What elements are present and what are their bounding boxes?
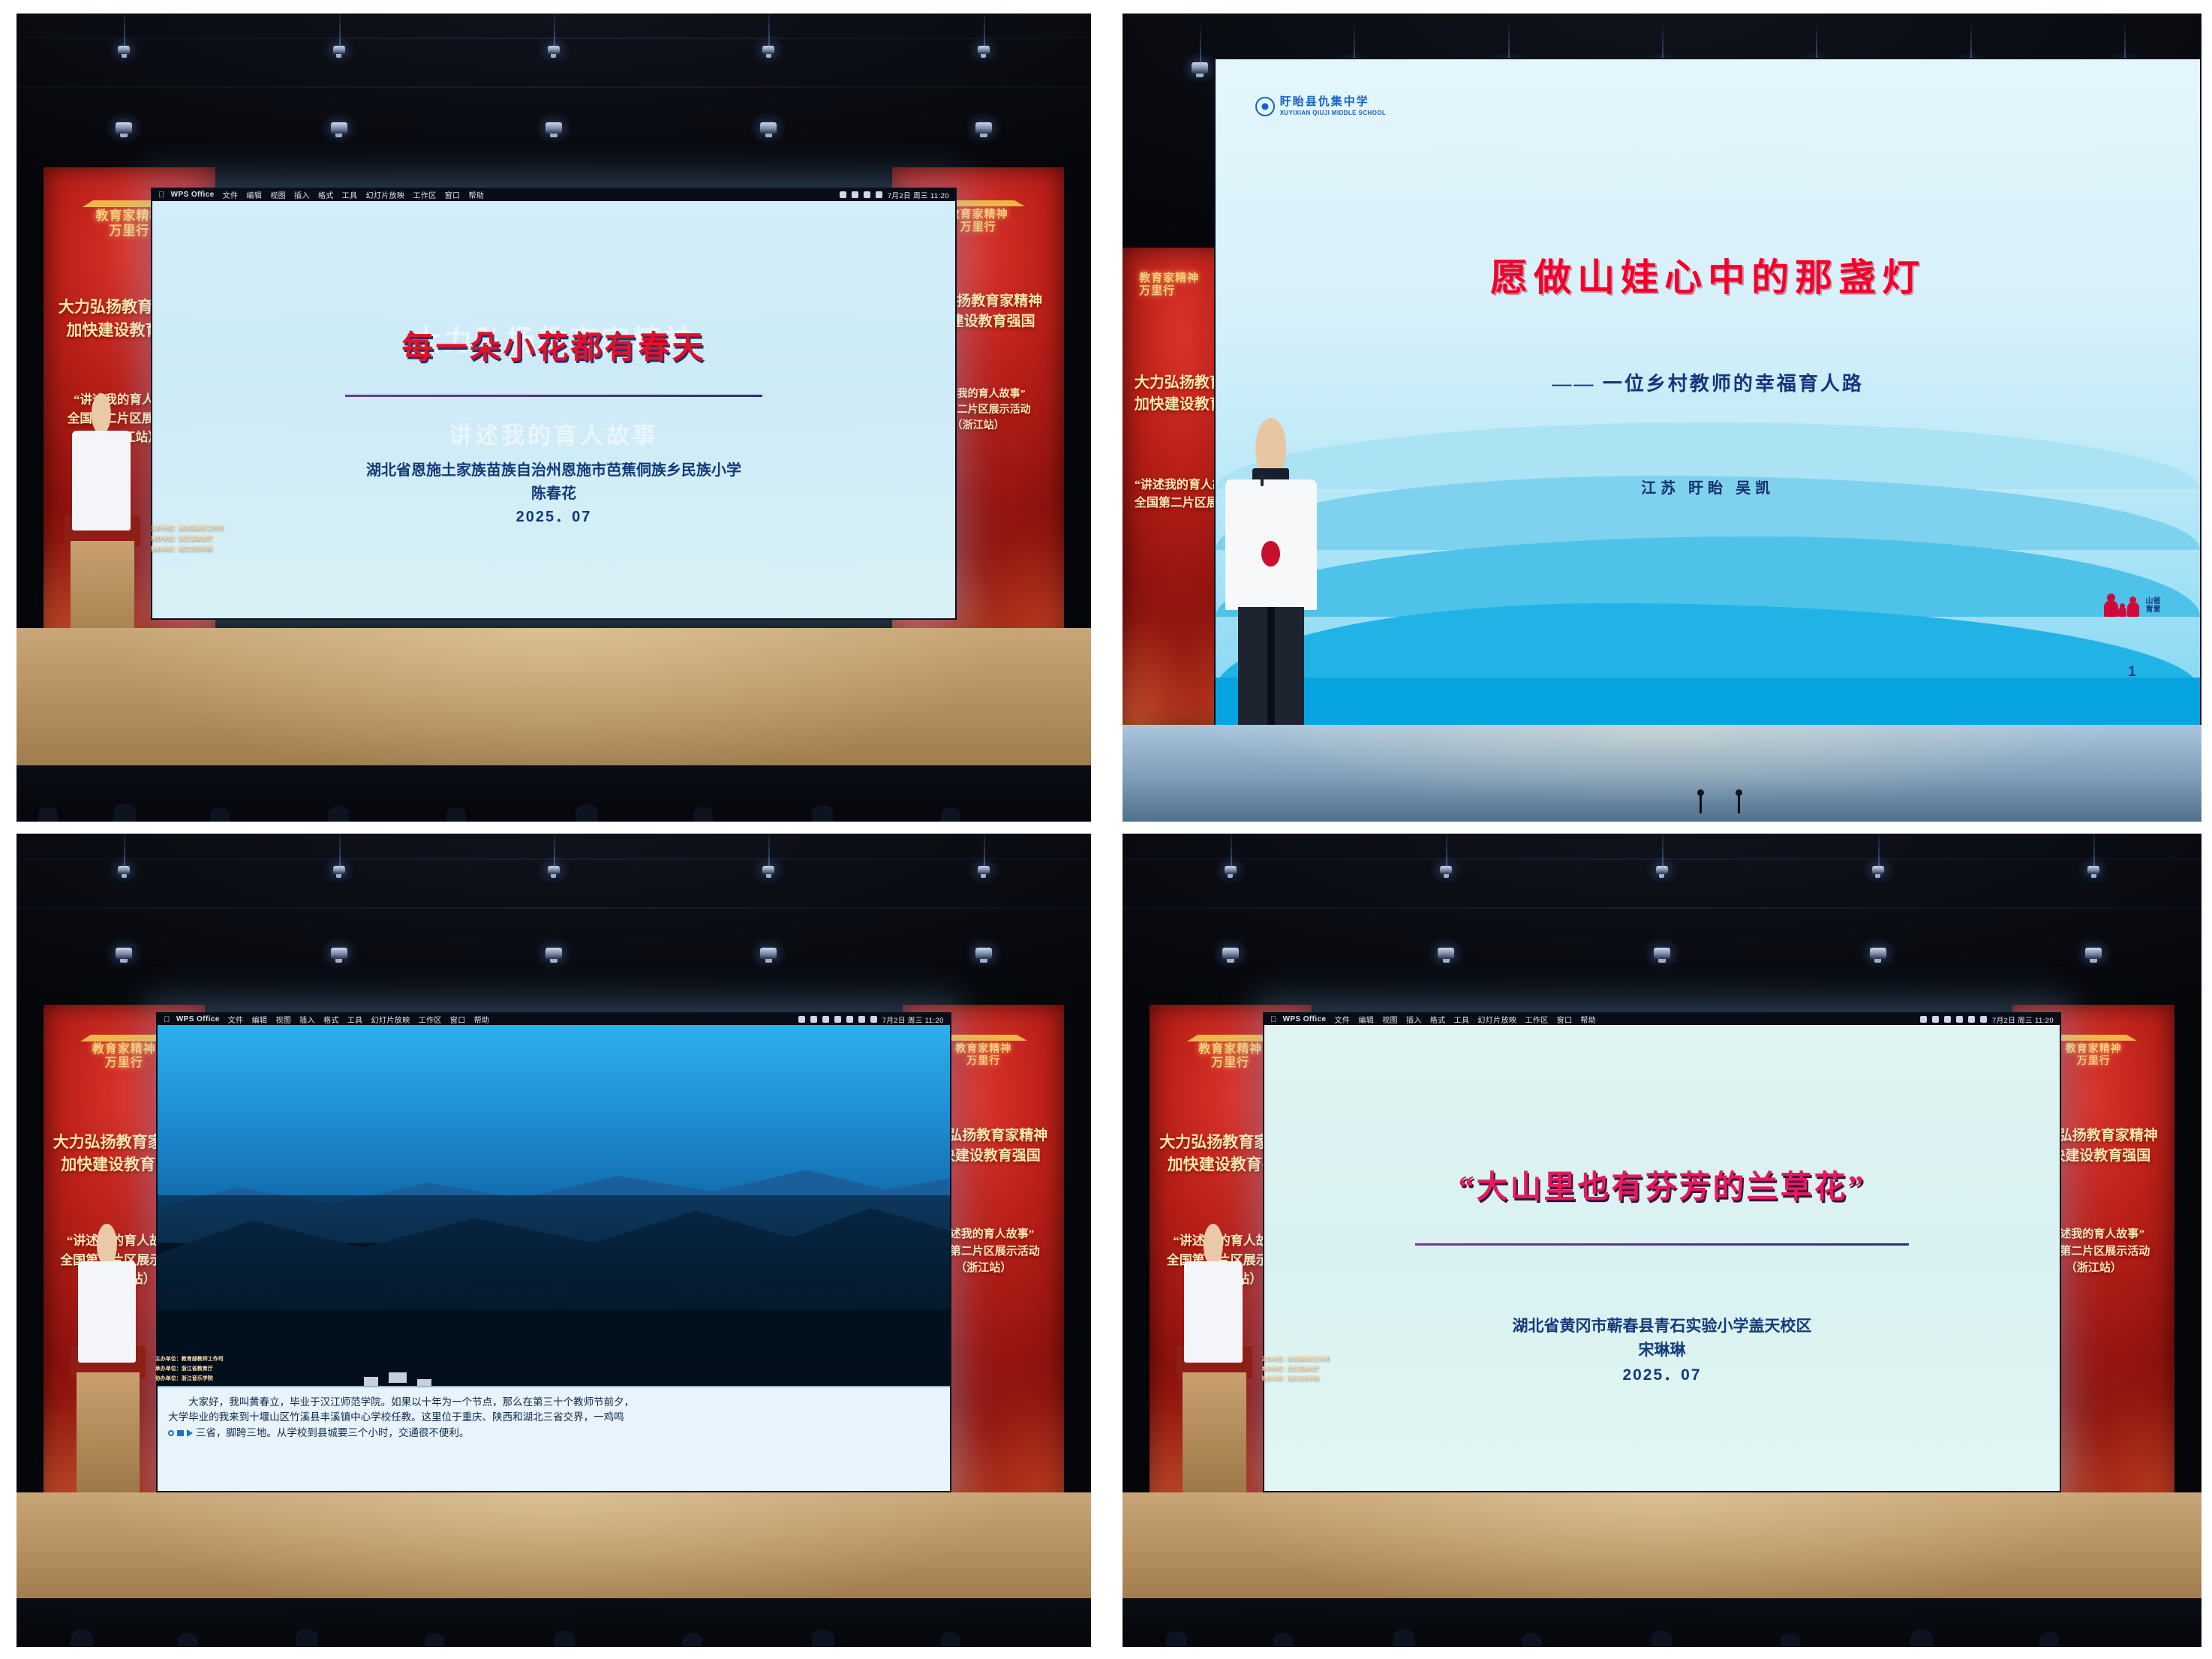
audience-area xyxy=(1123,1598,2201,1647)
stage-light-icon xyxy=(1654,948,1670,959)
display-icon[interactable] xyxy=(858,1016,865,1023)
stage-light-icon xyxy=(1870,948,1886,959)
panel-4-title-slide: 教育家精神 万里行 大力弘扬教育家精神 加快建设教育强国 “讲述我的育人故事” … xyxy=(1123,834,2201,1647)
stage-light-icon xyxy=(331,122,347,134)
id-badge xyxy=(1261,541,1279,567)
menu-item-wps-office[interactable]: WPS Office xyxy=(176,1015,220,1023)
slide-canvas: 大家好，我叫黄春立，毕业于汉江师范学院。如果以十年为一个节点，那么在第三十个教师… xyxy=(158,1014,950,1491)
macos-menubar[interactable]:  WPS Office 文件 编辑 视图 插入 格式 工具 幻灯片放映 工作区… xyxy=(152,189,955,201)
stage-light-icon xyxy=(2085,948,2102,959)
battery-icon[interactable] xyxy=(840,191,846,198)
speaker-person xyxy=(78,1224,136,1362)
search-icon[interactable] xyxy=(1980,1016,1987,1023)
stage-light-icon xyxy=(760,948,777,959)
panel-2-speaker-closeup: 教育家精神 万里行 大力弘扬教育家精神 加快建设教育强国 “讲述我的育人故事” … xyxy=(1123,14,2201,822)
menu-item-window[interactable]: 窗口 xyxy=(445,189,461,200)
menu-item-view[interactable]: 视图 xyxy=(1382,1014,1398,1025)
apple-icon[interactable]:  xyxy=(158,191,165,200)
menu-item-wps-office[interactable]: WPS Office xyxy=(1283,1015,1327,1023)
lighting-truss-2 xyxy=(17,907,1091,909)
slide-title: “大山里也有芬芳的兰草花” xyxy=(1264,1162,2060,1207)
search-icon[interactable] xyxy=(876,191,882,198)
stop-icon[interactable] xyxy=(177,1430,184,1436)
sponsor-line-3: 协办单位：浙江音乐学院 xyxy=(155,1374,274,1384)
apple-icon[interactable]:  xyxy=(1270,1015,1277,1024)
slide-subtitle: —— 一位乡村教师的幸福育人路 xyxy=(1216,368,2200,396)
lamp-row-lower xyxy=(1123,948,2201,959)
stage-light-icon xyxy=(1222,948,1239,959)
projection-screen: “大山里也有芬芳的兰草花” 湖北省黄冈市蕲春县青石实验小学盖天校区 宋琳琳 20… xyxy=(1263,1012,2061,1492)
stage-light-icon xyxy=(762,46,774,54)
slide-presenter: 陈春花 xyxy=(152,482,955,506)
menubar-clock[interactable]: 7月2日 周三 11:20 xyxy=(1992,1014,2054,1025)
menu-item-file[interactable]: 文件 xyxy=(1335,1014,1351,1025)
sponsor-line-2: 承办单位：浙江省教育厅 xyxy=(1262,1364,1381,1374)
caption-line-3: 三省，脚跨三地。从学校到县城要三个小时，交通很不便利。 xyxy=(196,1427,470,1438)
menu-item-tools[interactable]: 工具 xyxy=(342,189,358,200)
stage-light-icon xyxy=(118,866,130,874)
lamp-row-upper xyxy=(17,866,1091,874)
sponsor-line-2: 承办单位：浙江省教育厅 xyxy=(155,1364,274,1374)
stage-light-icon xyxy=(1872,866,1884,874)
stage-light-icon xyxy=(1192,62,1208,74)
menu-item-insert[interactable]: 插入 xyxy=(299,1014,315,1025)
menu-item-help[interactable]: 帮助 xyxy=(1580,1014,1596,1025)
slide-presenter: 江苏 盱眙 吴凯 xyxy=(1216,476,2200,497)
record-icon[interactable] xyxy=(168,1430,174,1436)
stage-light-icon xyxy=(118,46,130,54)
audience-area xyxy=(17,1598,1091,1647)
bluetooth-icon[interactable] xyxy=(822,1016,829,1023)
menu-item-wps-office[interactable]: WPS Office xyxy=(171,191,215,199)
menubar-status-area[interactable]: 7月2日 周三 11:20 xyxy=(840,190,955,200)
stage-light-icon xyxy=(1438,948,1454,959)
sponsor-line-1: 主办单位：教育部教师工作司 xyxy=(155,1354,274,1364)
podium xyxy=(1177,1346,1252,1492)
stage-light-icon xyxy=(545,948,562,959)
menu-item-file[interactable]: 文件 xyxy=(223,189,239,200)
volume-icon[interactable] xyxy=(834,1016,841,1023)
narration-caption: 大家好，我叫黄春立，毕业于汉江师范学院。如果以十年为一个节点，那么在第三十个教师… xyxy=(158,1386,950,1491)
stage-light-icon xyxy=(978,866,990,874)
menu-item-slideshow[interactable]: 幻灯片放映 xyxy=(371,1014,410,1025)
auditorium-background: 教育家精神 万里行 大力弘扬教育家精神 加快建设教育强国 “讲述我的育人故事” … xyxy=(1123,834,2201,1647)
apple-icon[interactable]:  xyxy=(164,1015,170,1024)
macos-menubar[interactable]:  WPS Office 文件 编辑 视图 插入 格式 工具 幻灯片放映 工作区… xyxy=(1264,1014,2060,1025)
menu-item-help[interactable]: 帮助 xyxy=(474,1014,490,1025)
lighting-truss-2 xyxy=(17,86,1091,88)
sponsor-line-3: 协办单位：浙江音乐学院 xyxy=(1262,1374,1381,1384)
stage-light-icon xyxy=(116,948,132,959)
macos-menubar[interactable]:  WPS Office 文件 编辑 视图 插入 格式 工具 幻灯片放映 工作区… xyxy=(158,1014,950,1025)
caption-line-2: 大学毕业的我来到十堰山区竹溪县丰溪镇中心学校任教。这里位于重庆、陕西和湖北三省交… xyxy=(168,1410,939,1425)
menubar-status-area[interactable]: 7月2日 周三 11:20 xyxy=(1920,1014,2060,1025)
menu-item-slideshow[interactable]: 幻灯片放映 xyxy=(1477,1014,1516,1025)
menu-item-workspace[interactable]: 工作区 xyxy=(1525,1014,1548,1025)
menu-item-format[interactable]: 格式 xyxy=(1430,1014,1446,1025)
sponsor-block: 主办单位：教育部教师工作司 承办单位：浙江省教育厅 协办单位：浙江音乐学院 xyxy=(151,523,280,555)
playback-controls[interactable] xyxy=(168,1429,193,1437)
menu-item-workspace[interactable]: 工作区 xyxy=(419,1014,442,1025)
slide-canvas: “大山里也有芬芳的兰草花” 湖北省黄冈市蕲春县青石实验小学盖天校区 宋琳琳 20… xyxy=(1264,1014,2060,1491)
floor-mic-left xyxy=(1700,794,1702,813)
stage-light-icon xyxy=(548,46,560,54)
wifi-icon[interactable] xyxy=(1932,1016,1939,1023)
projection-screen: 大家好，我叫黄春立，毕业于汉江师范学院。如果以十年为一个节点，那么在第三十个教师… xyxy=(156,1012,951,1492)
menu-item-format[interactable]: 格式 xyxy=(318,189,334,200)
auditorium-background: 教育家精神 万里行 大力弘扬教育家精神 加快建设教育强国 “讲述我的育人故事” … xyxy=(1123,14,2201,822)
school-logo: 盱眙县仇集中学 XUYIXIAN QIUJI MIDDLE SCHOOL xyxy=(1255,96,1386,116)
menu-item-workspace[interactable]: 工作区 xyxy=(413,189,436,200)
stage-light-icon xyxy=(975,948,992,959)
menu-item-window[interactable]: 窗口 xyxy=(1557,1014,1573,1025)
menu-item-view[interactable]: 视图 xyxy=(270,189,286,200)
slide-presenter: 宋琳琳 xyxy=(1264,1339,2060,1363)
panel-3-photo-slide: 教育家精神 万里行 大力弘扬教育家精神 加快建设教育强国 “讲述我的育人故事” … xyxy=(17,834,1091,1647)
sponsor-block: 主办单位：教育部教师工作司 承办单位：浙江省教育厅 协办单位：浙江音乐学院 xyxy=(155,1354,274,1384)
bluetooth-icon[interactable] xyxy=(1944,1016,1951,1023)
auditorium-background: 教育家精神 万里行 大力弘扬教育家精神 加快建设教育强国 “讲述我的育人故事” … xyxy=(17,834,1091,1647)
stage-light-icon xyxy=(548,866,560,874)
menu-item-format[interactable]: 格式 xyxy=(323,1014,339,1025)
menubar-clock[interactable]: 7月2日 周三 11:20 xyxy=(888,190,949,200)
menubar-status-area[interactable]: 7月2日 周三 11:20 xyxy=(798,1014,950,1025)
corner-logo-line1: 山爸 xyxy=(2146,597,2161,606)
menubar-clock[interactable]: 7月2日 周三 11:20 xyxy=(882,1014,944,1025)
menu-item-file[interactable]: 文件 xyxy=(228,1014,244,1025)
slide-watermark-2: 讲述我的育人故事 xyxy=(152,416,955,450)
lamp-row-lower xyxy=(17,122,1091,134)
wifi-icon[interactable] xyxy=(810,1016,817,1023)
water-band xyxy=(1216,678,2200,732)
sponsor-line-1: 主办单位：教育部教师工作司 xyxy=(1262,1354,1381,1364)
sponsor-line-3: 协办单位：浙江音乐学院 xyxy=(151,544,280,555)
floor-mic-right xyxy=(1738,794,1740,813)
stage-light-icon xyxy=(333,866,345,874)
volume-icon[interactable] xyxy=(864,191,870,198)
stage-light-icon xyxy=(116,122,132,134)
volume-icon[interactable] xyxy=(1956,1016,1963,1023)
stage-light-icon xyxy=(333,46,345,54)
stage-light-icon xyxy=(975,122,992,134)
menu-item-view[interactable]: 视图 xyxy=(275,1014,291,1025)
menu-item-window[interactable]: 窗口 xyxy=(450,1014,466,1025)
auditorium-background: 教育家精神 万里行 大力弘扬教育家精神 加快建设教育强国 “讲述我的育人故事” … xyxy=(17,14,1091,822)
menu-item-insert[interactable]: 插入 xyxy=(294,189,310,200)
audience-area xyxy=(17,765,1091,822)
menu-item-edit[interactable]: 编辑 xyxy=(246,189,262,200)
lamp-row-upper xyxy=(1123,866,2201,874)
title-underline xyxy=(345,395,762,397)
podium xyxy=(71,1346,146,1492)
menu-item-tools[interactable]: 工具 xyxy=(1454,1014,1470,1025)
sponsor-line-1: 主办单位：教育部教师工作司 xyxy=(151,523,280,533)
stage-light-icon xyxy=(331,948,347,959)
school-logo-en: XUYIXIAN QIUJI MIDDLE SCHOOL xyxy=(1280,110,1386,116)
stage-light-icon xyxy=(760,122,777,134)
menu-item-edit[interactable]: 编辑 xyxy=(1358,1014,1374,1025)
page-number: 1 xyxy=(2128,664,2136,681)
menu-item-insert[interactable]: 插入 xyxy=(1406,1014,1422,1025)
display-icon[interactable] xyxy=(1968,1016,1975,1023)
slide-title: 愿做山娃心中的那盏灯 xyxy=(1216,248,2200,302)
menu-item-help[interactable]: 帮助 xyxy=(468,189,484,200)
stage-light-icon xyxy=(1225,866,1237,874)
speaker-person xyxy=(72,393,130,530)
corner-family-logo: 山爸 育爱 xyxy=(2104,594,2161,617)
stage-light-icon xyxy=(762,866,774,874)
stage-light-icon xyxy=(2087,866,2099,874)
search-icon[interactable] xyxy=(870,1016,877,1023)
stage-floor xyxy=(1123,725,2201,822)
play-icon[interactable] xyxy=(187,1429,193,1437)
menu-item-edit[interactable]: 编辑 xyxy=(252,1014,268,1025)
stage-light-icon xyxy=(1440,866,1452,874)
lighting-truss-2 xyxy=(1123,907,2201,909)
projection-screen: 大力弘扬教育家精神 讲述我的育人故事 每一朵小花都有春天 湖北省恩施土家族苗族自… xyxy=(151,188,957,620)
wifi-icon[interactable] xyxy=(852,191,858,198)
battery-icon[interactable] xyxy=(1920,1016,1927,1023)
sponsor-line-2: 承办单位：浙江省教育厅 xyxy=(151,533,280,544)
family-icon xyxy=(2104,594,2143,617)
school-crest-icon xyxy=(1255,97,1275,116)
speaker-person xyxy=(1184,1224,1243,1362)
lamp-row-lower xyxy=(17,948,1091,959)
stage-light-icon xyxy=(978,46,990,54)
headphone-icon[interactable] xyxy=(846,1016,853,1023)
microphone-icon xyxy=(1261,474,1264,486)
slide-date: 2025．07 xyxy=(1264,1363,2060,1388)
title-underline xyxy=(1415,1243,1908,1246)
battery-icon[interactable] xyxy=(798,1016,805,1023)
caption-line-1: 大家好，我叫黄春立，毕业于汉江师范学院。如果以十年为一个节点，那么在第三十个教师… xyxy=(168,1395,939,1410)
school-logo-cn: 盱眙县仇集中学 xyxy=(1280,96,1386,109)
lamp-row-upper xyxy=(17,46,1091,54)
slide-school: 湖北省恩施土家族苗族自治州恩施市芭蕉侗族乡民族小学 xyxy=(152,459,955,482)
corner-logo-line2: 育爱 xyxy=(2146,606,2161,614)
photo-grid: 教育家精神 万里行 大力弘扬教育家精神 加快建设教育强国 “讲述我的育人故事” … xyxy=(0,0,2212,1659)
menu-item-tools[interactable]: 工具 xyxy=(347,1014,363,1025)
slide-title: 每一朵小花都有春天 xyxy=(152,322,955,368)
panel-1-stage-photo: 教育家精神 万里行 大力弘扬教育家精神 加快建设教育强国 “讲述我的育人故事” … xyxy=(17,14,1091,822)
slide-school: 湖北省黄冈市蕲春县青石实验小学盖天校区 xyxy=(1264,1315,2060,1339)
slide-canvas: 盱眙县仇集中学 XUYIXIAN QIUJI MIDDLE SCHOOL 愿做山… xyxy=(1216,59,2200,731)
sponsor-block: 主办单位：教育部教师工作司 承办单位：浙江省教育厅 协办单位：浙江音乐学院 xyxy=(1262,1354,1381,1384)
projection-screen: 盱眙县仇集中学 XUYIXIAN QIUJI MIDDLE SCHOOL 愿做山… xyxy=(1214,58,2201,732)
stage-light-icon xyxy=(1656,866,1668,874)
menu-item-slideshow[interactable]: 幻灯片放映 xyxy=(365,189,404,200)
stage-light-icon xyxy=(545,122,562,134)
